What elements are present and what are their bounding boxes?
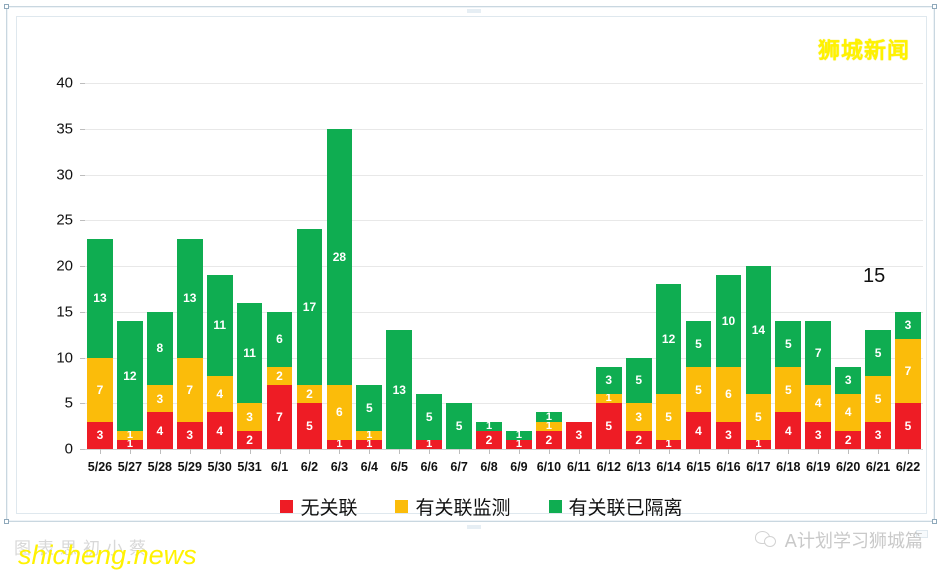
y-axis: 0510152025303540 <box>17 17 85 515</box>
resize-handle-bottom-center[interactable] <box>467 525 481 529</box>
bar-segment: 28 <box>327 129 353 385</box>
x-tick-label: 6/16 <box>716 460 740 474</box>
x-tick-label: 5/31 <box>237 460 261 474</box>
bar-segment: 4 <box>686 412 712 449</box>
bar-segment-value: 3 <box>575 429 582 441</box>
bar-segment: 2 <box>626 431 652 449</box>
bar-segment: 4 <box>805 385 831 422</box>
bar-segment-value: 4 <box>845 406 852 418</box>
x-tick-label: 6/10 <box>537 460 561 474</box>
chart-legend: 无关联有关联监测有关联已隔离 <box>17 493 941 520</box>
bar-segment-value: 11 <box>213 319 226 331</box>
bar-column[interactable]: 455 <box>686 83 712 449</box>
bar-segment-value: 5 <box>366 402 373 414</box>
bar-segment: 5 <box>626 358 652 404</box>
legend-label: 有关联已隔离 <box>569 493 683 520</box>
bar-segment: 5 <box>746 394 772 440</box>
bar-segment: 1 <box>327 440 353 449</box>
x-tick-label: 6/13 <box>627 460 651 474</box>
bar-segment: 2 <box>476 431 502 449</box>
x-tick <box>130 449 131 454</box>
bar-segment-value: 12 <box>123 370 136 382</box>
y-tick-label-35: 35 <box>56 120 73 137</box>
resize-handle-top-center[interactable] <box>467 9 481 13</box>
bar-segment-value: 7 <box>905 365 912 377</box>
bar-segment-value: 1 <box>366 430 372 441</box>
legend-swatch-icon <box>395 500 408 513</box>
bar-column[interactable]: 726 <box>267 83 293 449</box>
bar-segment: 5 <box>356 385 382 431</box>
wechat-icon <box>755 530 777 550</box>
bar-segment: 5 <box>865 330 891 376</box>
bar-segment: 2 <box>536 431 562 449</box>
x-tick <box>788 449 789 454</box>
bar-segment-value: 5 <box>755 411 762 423</box>
bar-column[interactable]: 438 <box>147 83 173 449</box>
x-tick-label: 6/19 <box>806 460 830 474</box>
bar-segment-value: 1 <box>546 421 552 432</box>
bar-segment: 3 <box>626 403 652 430</box>
bar-segment-value: 11 <box>243 347 256 359</box>
bar-column[interactable]: 3610 <box>716 83 742 449</box>
bar-segment: 6 <box>716 367 742 422</box>
watermark-bottom-left: shicheng.news <box>18 540 197 571</box>
bar-segment: 1 <box>656 440 682 449</box>
x-tick-label: 6/17 <box>746 460 770 474</box>
x-tick <box>429 449 430 454</box>
bar-segment-value: 1 <box>127 430 133 441</box>
bar-segment-value: 13 <box>183 292 196 304</box>
bar-segment: 7 <box>87 358 113 422</box>
bar-column[interactable]: 347 <box>805 83 831 449</box>
bar-segment-value: 7 <box>815 347 822 359</box>
bar-segment: 5 <box>775 367 801 413</box>
brand-footer: A计划学习狮城篇 <box>755 527 923 553</box>
bar-segment-value: 12 <box>662 333 675 345</box>
bar-segment-value: 6 <box>725 388 732 400</box>
legend-swatch-icon <box>280 500 293 513</box>
x-tick <box>309 449 310 454</box>
bar-segment: 1 <box>536 422 562 431</box>
bar-segment: 3 <box>805 422 831 449</box>
bar-segment-value: 4 <box>695 425 702 437</box>
bar-column[interactable]: 455 <box>775 83 801 449</box>
bar-segment-value: 4 <box>216 388 223 400</box>
x-tick-label: 6/1 <box>271 460 288 474</box>
bar-segment: 2 <box>297 385 323 403</box>
x-tick <box>339 449 340 454</box>
bar-segment: 3 <box>716 422 742 449</box>
bar-segment-value: 1 <box>546 412 552 423</box>
bar-segment: 3 <box>237 403 263 430</box>
x-tick-label: 6/14 <box>656 460 680 474</box>
bar-column[interactable]: 235 <box>626 83 652 449</box>
bar-column[interactable]: 5217 <box>297 83 323 449</box>
x-axis-line <box>85 449 923 450</box>
x-tick <box>190 449 191 454</box>
bar-column[interactable]: 115 <box>356 83 382 449</box>
bar-segment-value: 7 <box>97 384 104 396</box>
x-tick-label: 5/27 <box>118 460 142 474</box>
y-tick-label-0: 0 <box>65 441 73 458</box>
x-tick-label: 6/4 <box>361 460 378 474</box>
x-tick-label: 6/18 <box>776 460 800 474</box>
x-tick-label: 5/30 <box>208 460 232 474</box>
bar-segment-value: 8 <box>156 342 163 354</box>
bar-segment-value: 13 <box>393 384 406 396</box>
bar-segment-value: 2 <box>306 388 313 400</box>
y-tick-label-25: 25 <box>56 212 73 229</box>
bar-segment: 11 <box>237 303 263 404</box>
bar-segment-value: 2 <box>546 434 553 446</box>
x-tick <box>369 449 370 454</box>
bar-segment: 5 <box>656 394 682 440</box>
bar-segment: 13 <box>386 330 412 449</box>
bar-column[interactable]: 13 <box>386 83 412 449</box>
bar-segment: 5 <box>775 321 801 367</box>
bar-segment: 14 <box>746 266 772 394</box>
bar-column[interactable]: 211 <box>536 83 562 449</box>
x-tick <box>459 449 460 454</box>
bar-column[interactable]: 573 <box>895 83 921 449</box>
screenshot-root: 狮城新闻 0510152025303540 371311124383713441… <box>0 0 941 578</box>
bar-segment: 3 <box>177 422 203 449</box>
legend-swatch-icon <box>549 500 562 513</box>
bar-segment: 2 <box>267 367 293 385</box>
bar-segment: 5 <box>416 394 442 440</box>
bar-segment-value: 1 <box>606 393 612 404</box>
y-tick-label-15: 15 <box>56 303 73 320</box>
bar-column[interactable]: 2311 <box>237 83 263 449</box>
x-tick-label: 5/29 <box>178 460 202 474</box>
bar-segment: 7 <box>805 321 831 385</box>
x-tick <box>579 449 580 454</box>
x-tick <box>250 449 251 454</box>
bar-segment-value: 4 <box>156 425 163 437</box>
bar-segment: 3 <box>147 385 173 412</box>
bar-segment: 3 <box>87 422 113 449</box>
bar-segment: 7 <box>267 385 293 449</box>
legend-item-linked-monitored[interactable]: 有关联监测 <box>395 493 510 520</box>
bar-segment: 6 <box>267 312 293 367</box>
x-tick-label: 6/11 <box>567 460 591 474</box>
bar-segment: 1 <box>506 440 532 449</box>
bar-segment: 5 <box>297 403 323 449</box>
x-tick-label: 6/3 <box>331 460 348 474</box>
bar-segment-value: 3 <box>97 429 104 441</box>
bar-segment-value: 14 <box>752 324 765 336</box>
bar-segment: 4 <box>147 412 173 449</box>
bar-column[interactable]: 513 <box>596 83 622 449</box>
x-tick <box>609 449 610 454</box>
bar-segment: 3 <box>835 367 861 394</box>
y-tick-label-40: 40 <box>56 75 73 92</box>
bar-segment-value: 7 <box>276 411 283 423</box>
bar-column[interactable]: 1628 <box>327 83 353 449</box>
bar-segment-value: 3 <box>875 429 882 441</box>
bar-segment: 1 <box>596 394 622 403</box>
legend-item-unlinked[interactable]: 无关联 <box>280 493 357 520</box>
bar-segment: 1 <box>746 440 772 449</box>
bar-segment-value: 17 <box>303 301 316 313</box>
bar-column[interactable]: 243 <box>835 83 861 449</box>
bar-segment-value: 1 <box>516 430 522 441</box>
bar-segment-value: 2 <box>276 370 283 382</box>
bar-segment-value: 3 <box>186 429 193 441</box>
x-tick-label: 6/6 <box>420 460 437 474</box>
chart-canvas: 狮城新闻 0510152025303540 371311124383713441… <box>16 16 927 514</box>
x-tick-label: 6/21 <box>866 460 890 474</box>
bar-segment-value: 2 <box>845 434 852 446</box>
bar-segment: 5 <box>865 376 891 422</box>
x-tick-label: 6/15 <box>686 460 710 474</box>
bar-segment-value: 5 <box>695 384 702 396</box>
bar-column[interactable]: 21 <box>476 83 502 449</box>
resize-handle-top-right[interactable] <box>932 4 937 9</box>
x-tick-label: 6/12 <box>597 460 621 474</box>
bar-segment: 1 <box>117 440 143 449</box>
x-tick-label: 5/28 <box>148 460 172 474</box>
legend-label: 无关联 <box>300 493 357 520</box>
bar-segment: 1 <box>416 440 442 449</box>
bar-segment: 1 <box>536 412 562 421</box>
bar-segment-value: 3 <box>845 374 852 386</box>
x-tick <box>669 449 670 454</box>
bar-column[interactable]: 4411 <box>207 83 233 449</box>
brand-label: A计划学习狮城篇 <box>785 527 923 553</box>
bar-segment-value: 28 <box>333 251 346 263</box>
bar-segment: 4 <box>775 412 801 449</box>
bar-segment-value: 5 <box>785 384 792 396</box>
bar-segment: 13 <box>87 239 113 358</box>
bar-series-area: 3713111243837134411231172652171628115131… <box>85 83 923 449</box>
bar-column[interactable]: 15 <box>416 83 442 449</box>
bar-segment-value: 6 <box>336 406 343 418</box>
bar-segment: 4 <box>207 412 233 449</box>
x-tick <box>699 449 700 454</box>
resize-handle-bottom-left[interactable] <box>4 519 9 524</box>
watermark-top-right: 狮城新闻 <box>818 33 910 65</box>
bar-segment-value: 2 <box>635 434 642 446</box>
bar-segment: 2 <box>835 431 861 449</box>
bar-segment: 13 <box>177 239 203 358</box>
bar-segment: 5 <box>686 367 712 413</box>
bar-segment: 1 <box>356 431 382 440</box>
x-tick-label: 6/9 <box>510 460 527 474</box>
bar-segment-value: 3 <box>246 411 253 423</box>
bar-segment-value: 13 <box>93 292 106 304</box>
bar-segment: 3 <box>865 422 891 449</box>
bar-column[interactable]: 3713 <box>87 83 113 449</box>
bar-segment: 1 <box>356 440 382 449</box>
bar-segment-value: 7 <box>186 384 193 396</box>
bar-segment-value: 3 <box>635 411 642 423</box>
bar-segment-value: 2 <box>486 434 493 446</box>
bar-segment-value: 5 <box>456 420 463 432</box>
bar-segment-value: 4 <box>785 425 792 437</box>
bar-segment-value: 3 <box>605 374 612 386</box>
bar-segment-value: 2 <box>246 434 253 446</box>
bar-segment: 10 <box>716 275 742 367</box>
bar-segment-value: 5 <box>665 411 672 423</box>
bar-column[interactable]: 1514 <box>746 83 772 449</box>
x-tick-label: 6/8 <box>480 460 497 474</box>
x-tick <box>908 449 909 454</box>
bar-segment: 7 <box>177 358 203 422</box>
x-tick <box>549 449 550 454</box>
bar-segment-value: 5 <box>426 411 433 423</box>
bar-column[interactable]: 3713 <box>177 83 203 449</box>
bar-segment-value: 3 <box>905 319 912 331</box>
legend-label: 有关联监测 <box>415 493 510 520</box>
bar-column[interactable]: 1112 <box>117 83 143 449</box>
resize-handle-top-left[interactable] <box>4 4 9 9</box>
x-tick <box>519 449 520 454</box>
bar-segment-value: 3 <box>815 429 822 441</box>
bar-segment-value: 4 <box>216 425 223 437</box>
bar-segment-value: 6 <box>276 333 283 345</box>
bar-segment-value: 5 <box>785 338 792 350</box>
bar-segment: 5 <box>596 403 622 449</box>
bar-segment: 8 <box>147 312 173 385</box>
bar-segment-value: 3 <box>725 429 732 441</box>
bar-segment: 1 <box>476 422 502 431</box>
x-tick <box>639 449 640 454</box>
x-tick <box>818 449 819 454</box>
bar-segment: 1 <box>506 431 532 440</box>
x-tick <box>728 449 729 454</box>
x-tick <box>399 449 400 454</box>
bar-column[interactable]: 11 <box>506 83 532 449</box>
y-tick-label-30: 30 <box>56 166 73 183</box>
x-tick <box>848 449 849 454</box>
bar-segment: 4 <box>207 376 233 413</box>
bar-segment: 5 <box>686 321 712 367</box>
bar-segment-value: 5 <box>875 347 882 359</box>
bar-segment-value: 4 <box>815 397 822 409</box>
bar-segment-value: 5 <box>695 338 702 350</box>
x-tick-label: 6/22 <box>896 460 920 474</box>
x-tick-label: 5/26 <box>88 460 112 474</box>
x-tick-label: 6/20 <box>836 460 860 474</box>
x-tick <box>489 449 490 454</box>
bar-segment: 12 <box>117 321 143 431</box>
x-tick-label: 6/7 <box>450 460 467 474</box>
bar-segment-value: 5 <box>905 420 912 432</box>
bar-segment: 11 <box>207 275 233 376</box>
x-tick <box>280 449 281 454</box>
bar-segment: 2 <box>237 431 263 449</box>
x-tick <box>160 449 161 454</box>
bar-segment: 17 <box>297 229 323 385</box>
x-tick <box>100 449 101 454</box>
bar-segment-value: 1 <box>486 421 492 432</box>
bar-segment: 7 <box>895 339 921 403</box>
bar-segment: 5 <box>895 403 921 449</box>
bar-segment: 3 <box>596 367 622 394</box>
bar-segment: 12 <box>656 284 682 394</box>
x-tick-label: 6/2 <box>301 460 318 474</box>
x-tick <box>878 449 879 454</box>
bar-segment-value: 3 <box>156 393 163 405</box>
bar-column[interactable]: 3 <box>566 83 592 449</box>
x-tick-label: 6/5 <box>391 460 408 474</box>
bar-segment-value: 5 <box>306 420 313 432</box>
bar-segment: 3 <box>566 422 592 449</box>
bar-column[interactable]: 5 <box>446 83 472 449</box>
y-tick-label-5: 5 <box>65 395 73 412</box>
x-tick <box>220 449 221 454</box>
bar-segment: 3 <box>895 312 921 339</box>
bar-segment: 5 <box>446 403 472 449</box>
y-tick-label-20: 20 <box>56 258 73 275</box>
bar-segment-value: 5 <box>875 393 882 405</box>
bar-segment: 6 <box>327 385 353 440</box>
x-tick <box>758 449 759 454</box>
bar-segment: 4 <box>835 394 861 431</box>
last-value-annotation: 15 <box>863 265 885 288</box>
legend-item-linked-quarantined[interactable]: 有关联已隔离 <box>549 493 683 520</box>
y-tick-label-10: 10 <box>56 349 73 366</box>
bar-segment-value: 10 <box>722 315 735 327</box>
bar-segment-value: 5 <box>605 420 612 432</box>
bar-segment-value: 5 <box>635 374 642 386</box>
chart-card-frame[interactable]: 狮城新闻 0510152025303540 371311124383713441… <box>6 6 935 522</box>
bar-segment: 1 <box>117 431 143 440</box>
bar-column[interactable]: 1512 <box>656 83 682 449</box>
